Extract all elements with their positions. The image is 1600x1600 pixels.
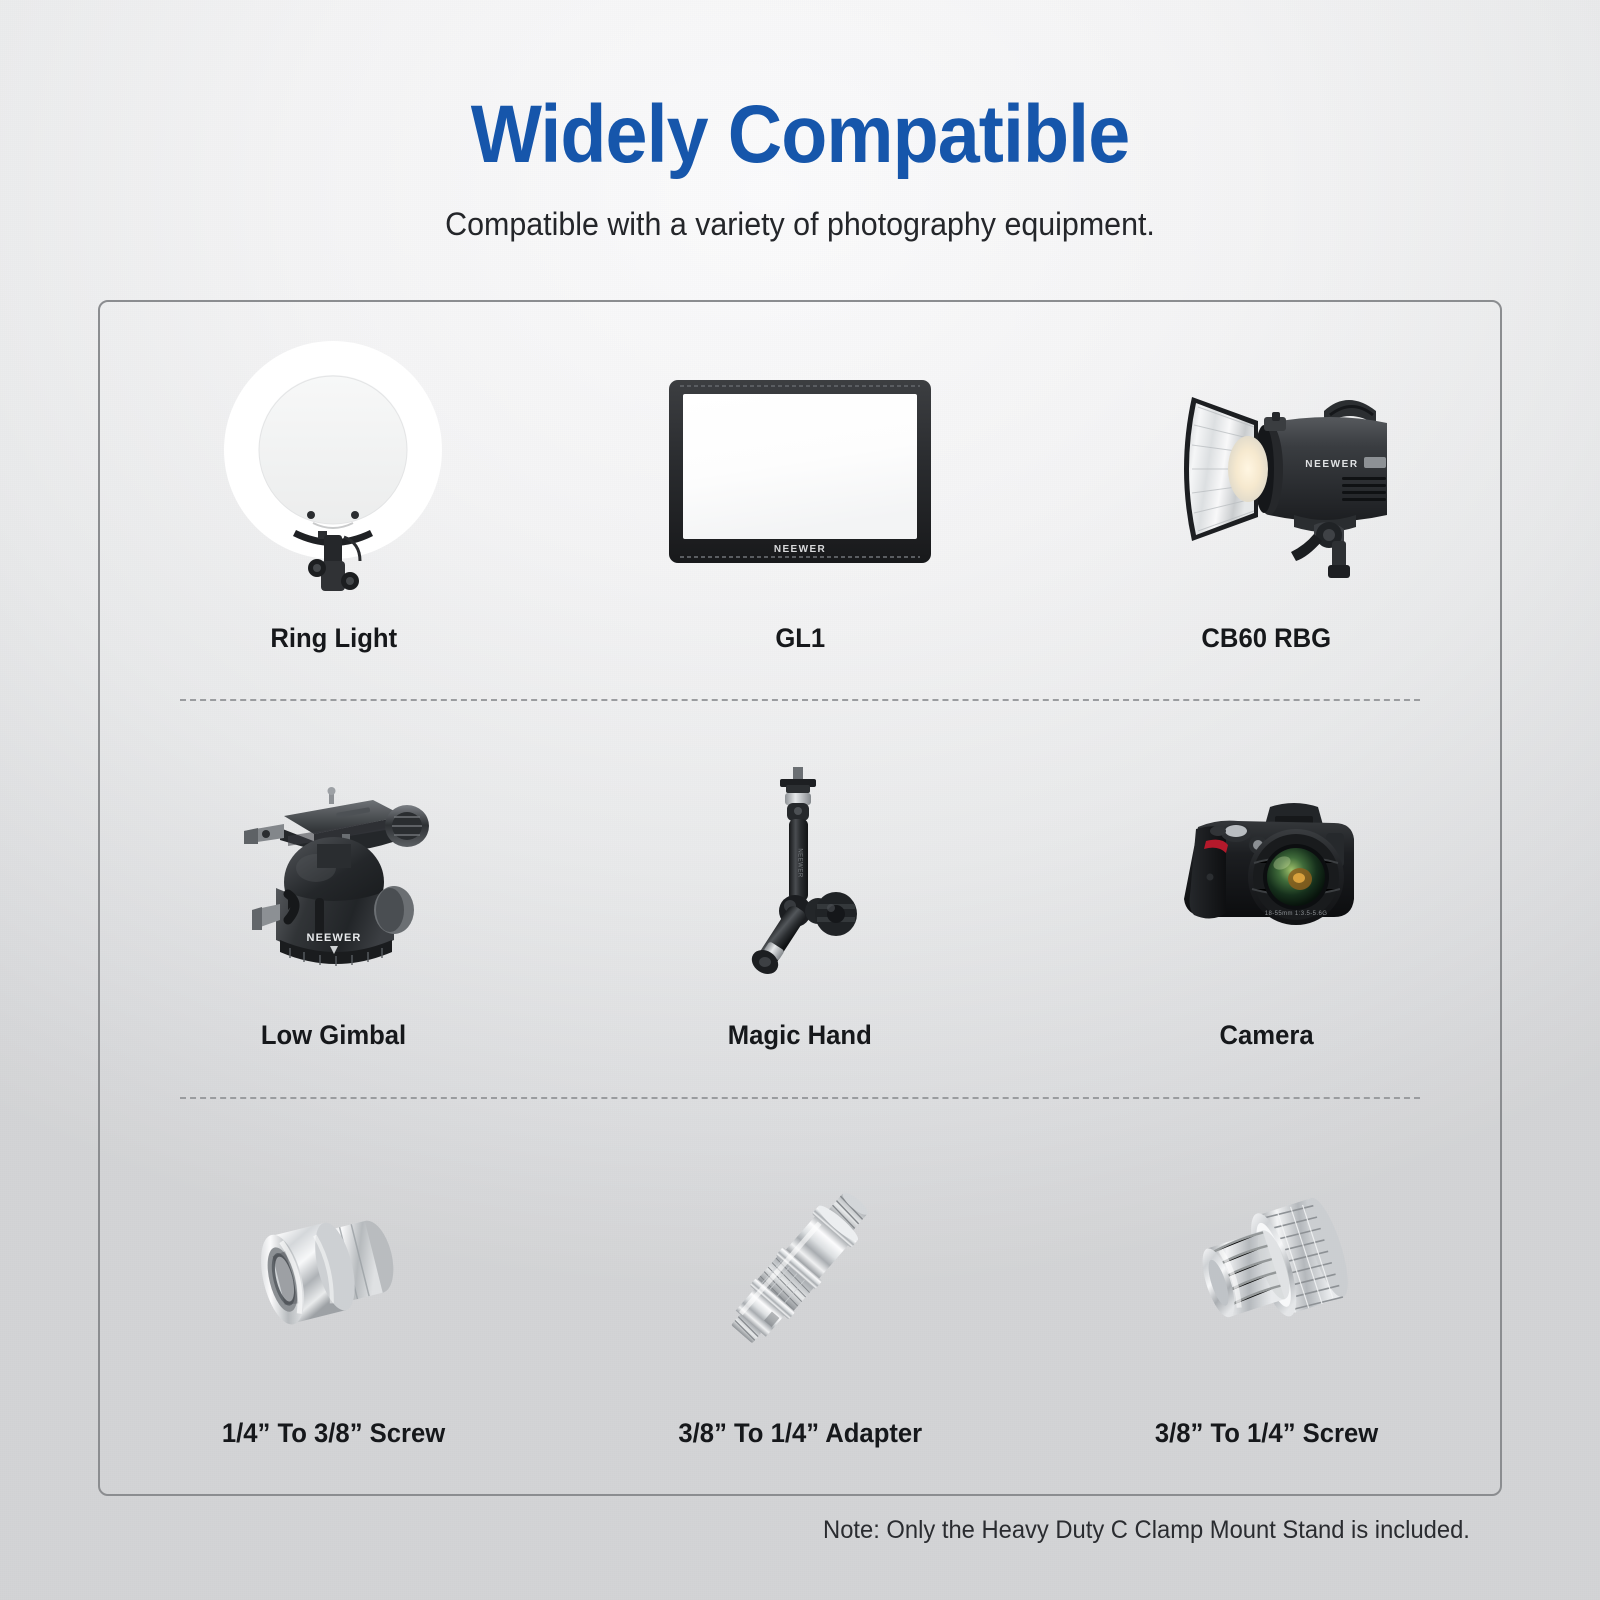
product-grid: Ring Light (100, 302, 1500, 1494)
svg-text:NEEWER: NEEWER (307, 932, 362, 944)
header: Widely Compatible Compatible with a vari… (0, 0, 1600, 243)
cob-light-icon: NEEWER (1136, 365, 1398, 580)
screw-bushing-art (100, 1142, 567, 1392)
product-cell-screw-38-14[interactable]: 3/8” To 1/4” Screw (1033, 1097, 1500, 1494)
low-gimbal-art: NEEWER (100, 744, 567, 994)
product-cell-magic-hand[interactable]: NEEWER (567, 699, 1034, 1096)
product-row: Ring Light (100, 302, 1500, 699)
product-row: 1/4” To 3/8” Screw (100, 1097, 1500, 1494)
product-cell-adapter-38-14[interactable]: 3/8” To 1/4” Adapter (567, 1097, 1034, 1494)
magic-arm-icon: NEEWER (725, 759, 875, 979)
dslr-camera-icon: 18-55mm 1:3.5-5.6G (1162, 789, 1372, 949)
product-row: NEEWER (100, 699, 1500, 1096)
ring-light-icon (218, 347, 448, 597)
product-cell-low-gimbal[interactable]: NEEWER (100, 699, 567, 1096)
product-cell-screw-14-38[interactable]: 1/4” To 3/8” Screw (100, 1097, 567, 1494)
product-label: 3/8” To 1/4” Screw (1155, 1418, 1378, 1449)
product-cell-ring-light[interactable]: Ring Light (100, 302, 567, 699)
infographic-page: Widely Compatible Compatible with a vari… (0, 0, 1600, 1600)
thumb-screw-art (1033, 1142, 1500, 1392)
thumb-screw-icon (1162, 1179, 1372, 1354)
ring-light-art (100, 347, 567, 597)
svg-text:NEEWER: NEEWER (797, 849, 803, 879)
camera-art: 18-55mm 1:3.5-5.6G (1033, 744, 1500, 994)
spigot-stud-art (567, 1142, 1034, 1392)
page-title: Widely Compatible (64, 88, 1536, 182)
product-label: 3/8” To 1/4” Adapter (678, 1418, 922, 1449)
gl1-art: NEEWER (567, 347, 1034, 597)
spigot-stud-icon (680, 1177, 920, 1357)
page-subtitle: Compatible with a variety of photography… (40, 206, 1560, 243)
product-cell-cb60[interactable]: NEEWER (1033, 302, 1500, 699)
product-label: CB60 RBG (1202, 623, 1332, 654)
svg-text:NEEWER: NEEWER (1305, 459, 1359, 470)
product-label: Low Gimbal (261, 1020, 406, 1051)
product-cell-gl1[interactable]: NEEWER GL1 (567, 302, 1034, 699)
svg-text:18-55mm 1:3.5-5.6G: 18-55mm 1:3.5-5.6G (1264, 911, 1327, 917)
product-label: 1/4” To 3/8” Screw (222, 1418, 445, 1449)
ball-head-icon: NEEWER (218, 764, 448, 974)
cb60-art: NEEWER (1033, 347, 1500, 597)
product-card: Ring Light (98, 300, 1502, 1496)
product-label: Magic Hand (728, 1020, 872, 1051)
led-panel-icon: NEEWER (666, 377, 934, 567)
footer-note: Note: Only the Heavy Duty C Clamp Mount … (823, 1516, 1470, 1545)
svg-text:NEEWER: NEEWER (774, 544, 826, 555)
magic-hand-art: NEEWER (567, 744, 1034, 994)
product-label: GL1 (775, 623, 825, 654)
screw-bushing-icon (233, 1182, 433, 1352)
product-label: Ring Light (270, 623, 397, 654)
product-label: Camera (1220, 1020, 1314, 1051)
product-cell-camera[interactable]: 18-55mm 1:3.5-5.6G Camera (1033, 699, 1500, 1096)
